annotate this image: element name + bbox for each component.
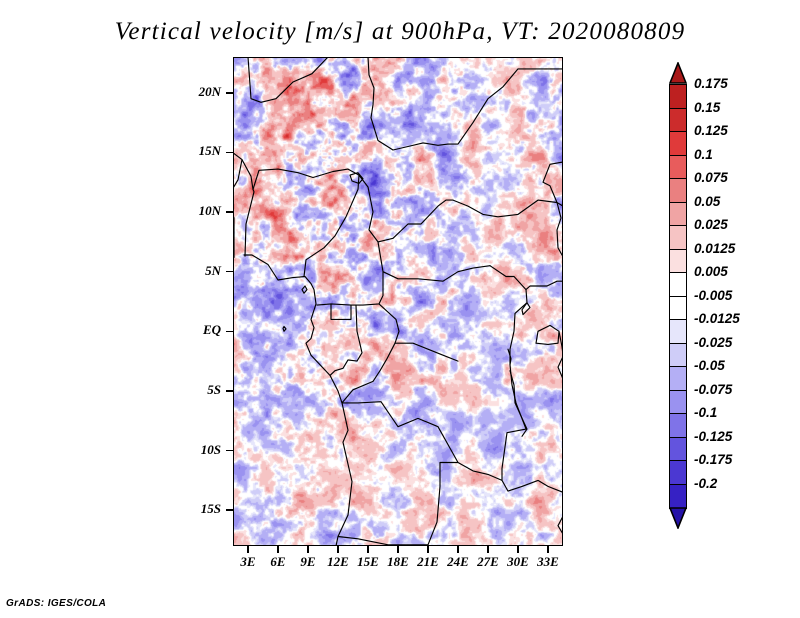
border-line: [526, 281, 563, 289]
colorbar-cell: [669, 484, 687, 509]
latitude-label: 10N: [171, 203, 221, 219]
colorbar-cell: [669, 249, 687, 274]
border-line: [234, 154, 253, 190]
longitude-tick: [397, 546, 399, 553]
longitude-tick: [517, 546, 519, 553]
border-line: [371, 118, 448, 150]
border-line: [378, 242, 490, 281]
latitude-label: 15N: [171, 143, 221, 159]
colorbar-tick-label: 0.075: [694, 170, 728, 185]
colorbar-tick-label: 0.1: [694, 147, 713, 162]
colorbar-cell: [669, 390, 687, 415]
border-line: [283, 327, 286, 332]
latitude-tick: [226, 92, 233, 94]
colorbar-tick-label: -0.1: [694, 405, 717, 420]
latitude-tick: [226, 390, 233, 392]
border-line: [253, 169, 359, 189]
border-line: [317, 272, 383, 305]
latitude-tick: [226, 450, 233, 452]
colorbar-cell: [669, 202, 687, 227]
colorbar-tick-label: 0.0125: [694, 241, 735, 256]
border-line: [490, 266, 527, 481]
colorbar-cell: [669, 343, 687, 368]
colorbar: [669, 62, 687, 546]
colorbar-cell: [669, 296, 687, 321]
latitude-tick: [226, 152, 233, 154]
colorbar-cell: [669, 460, 687, 485]
map-plot-area: [233, 57, 563, 546]
colorbar-tick-label: 0.15: [694, 100, 720, 115]
longitude-tick: [307, 546, 309, 553]
colorbar-max-arrow: [669, 62, 687, 84]
colorbar-tick-label: 0.175: [694, 76, 728, 91]
latitude-label: 5N: [171, 263, 221, 279]
latitude-label: 10S: [171, 442, 221, 458]
colorbar-min-arrow: [669, 507, 687, 529]
latitude-tick: [226, 271, 233, 273]
page-title: Vertical velocity [m/s] at 900hPa, VT: 2…: [0, 18, 800, 46]
colorbar-tick-label: 0.025: [694, 217, 728, 232]
longitude-label: 33E: [526, 554, 570, 570]
border-line: [522, 303, 530, 315]
latitude-label: EQ: [171, 322, 221, 338]
border-line: [328, 57, 374, 118]
colorbar-cell: [669, 131, 687, 156]
border-line: [233, 200, 234, 257]
latitude-label: 5S: [171, 382, 221, 398]
border-line: [302, 286, 307, 293]
colorbar-tick-label: 0.05: [694, 194, 720, 209]
border-line: [331, 304, 351, 320]
border-line: [359, 175, 453, 242]
border-line: [233, 160, 242, 201]
colorbar-tick-label: -0.005: [694, 288, 732, 303]
border-line: [395, 343, 458, 361]
border-line: [558, 516, 563, 534]
latitude-label: 15S: [171, 501, 221, 517]
latitude-tick: [226, 331, 233, 333]
longitude-tick: [247, 546, 249, 553]
longitude-tick: [337, 546, 339, 553]
border-line: [233, 152, 234, 153]
border-line: [448, 69, 563, 144]
border-line: [557, 203, 563, 266]
colorbar-tick-label: 0.125: [694, 123, 728, 138]
colorbar-tick-label: -0.2: [694, 476, 717, 491]
colorbar-cell: [669, 84, 687, 109]
colorbar-tick-label: 0.005: [694, 264, 728, 279]
border-line: [458, 463, 563, 493]
border-line: [453, 200, 563, 217]
grads-credit: GrADS: IGES/COLA: [6, 598, 106, 609]
longitude-tick: [427, 546, 429, 553]
colorbar-cell: [669, 225, 687, 250]
colorbar-tick-label: -0.125: [694, 429, 732, 444]
colorbar-cell: [669, 178, 687, 203]
border-line: [244, 255, 352, 546]
border-line: [536, 325, 559, 344]
colorbar-tick-label: -0.175: [694, 452, 732, 467]
colorbar-cell: [669, 437, 687, 462]
colorbar-tick-label: -0.05: [694, 358, 725, 373]
border-line: [559, 331, 563, 355]
colorbar-cell: [669, 108, 687, 133]
longitude-tick: [487, 546, 489, 553]
country-borders-overlay: [233, 57, 563, 546]
colorbar-cell: [669, 319, 687, 344]
border-line: [558, 356, 563, 379]
colorbar-tick-label: -0.0125: [694, 311, 740, 326]
colorbar-tick-label: -0.075: [694, 382, 732, 397]
longitude-tick: [277, 546, 279, 553]
longitude-tick: [547, 546, 549, 553]
border-line: [304, 175, 359, 276]
colorbar-cell: [669, 366, 687, 391]
border-line: [245, 189, 254, 256]
latitude-label: 20N: [171, 84, 221, 100]
border-line: [248, 57, 328, 102]
longitude-tick: [367, 546, 369, 553]
latitude-tick: [226, 509, 233, 511]
border-line: [338, 402, 458, 545]
colorbar-cell: [669, 413, 687, 438]
grads-plot-page: Vertical velocity [m/s] at 900hPa, VT: 2…: [0, 0, 800, 618]
colorbar-tick-label: -0.025: [694, 335, 732, 350]
border-line: [330, 305, 362, 375]
longitude-tick: [457, 546, 459, 553]
colorbar-cell: [669, 272, 687, 297]
border-line: [543, 162, 563, 203]
latitude-tick: [226, 211, 233, 213]
colorbar-cell: [669, 155, 687, 180]
